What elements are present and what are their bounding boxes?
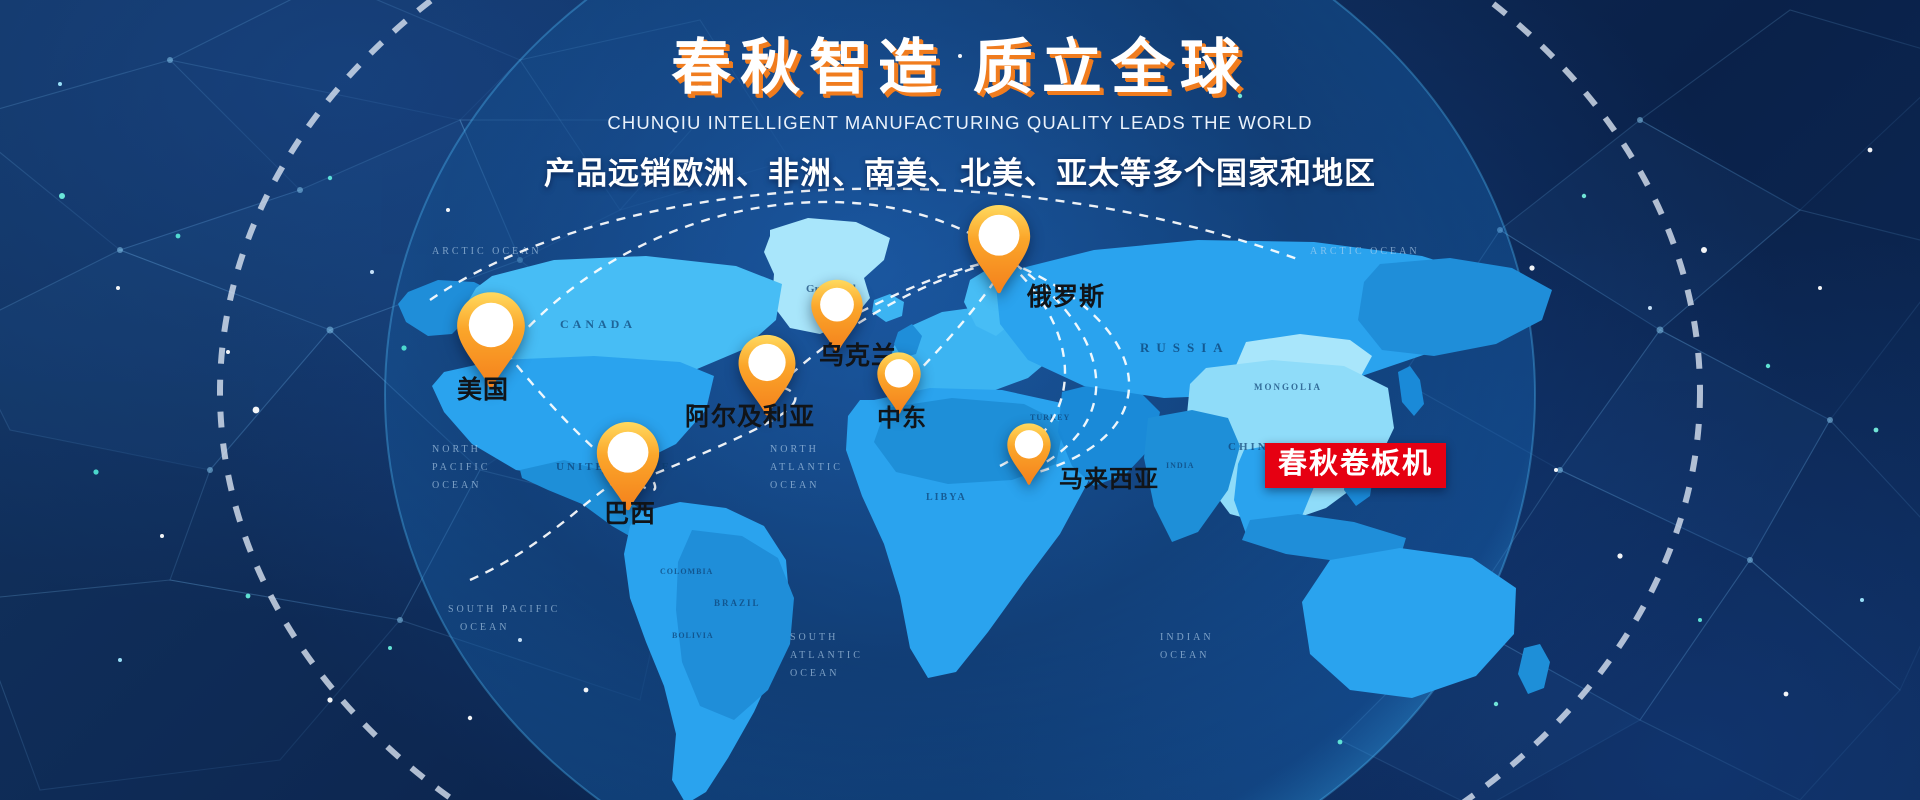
map-pin-usa[interactable]: 美国 <box>455 290 527 390</box>
map-pin-icon <box>1006 422 1052 486</box>
map-pin-ukraine[interactable]: 乌克兰 <box>810 278 864 354</box>
map-pin-icon <box>966 203 1032 295</box>
map-pin-label: 中东 <box>877 407 927 431</box>
map-pin-russia[interactable]: 俄罗斯 <box>966 203 1032 295</box>
page-title: 春秋智造 质立全球 <box>671 34 1249 101</box>
map-pin-mideast[interactable]: 中东 <box>876 351 922 415</box>
headline-block: 春秋智造 质立全球 CHUNQIU INTELLIGENT MANUFACTUR… <box>0 34 1920 193</box>
map-pin-icon <box>455 290 527 390</box>
page-subtitle-en: CHUNQIU INTELLIGENT MANUFACTURING QUALIT… <box>0 112 1920 134</box>
map-pin-brazil[interactable]: 巴西 <box>595 420 661 512</box>
map-pin-icon <box>595 420 661 512</box>
banner-root: ARCTIC OCEAN ARCTIC OCEAN NORTH PACIFIC … <box>0 0 1920 800</box>
map-pin-label: 阿尔及利亚 <box>685 405 815 430</box>
map-pin-label: 巴西 <box>604 502 656 527</box>
map-pin-label: 俄罗斯 <box>1027 285 1105 310</box>
map-pin-malaysia[interactable]: 马来西亚 <box>1006 422 1052 486</box>
map-pin-label: 美国 <box>457 378 509 403</box>
map-pin-algeria[interactable]: 阿尔及利亚 <box>737 333 797 417</box>
page-subtitle-cn: 产品远销欧洲、非洲、南美、北美、亚太等多个国家和地区 <box>0 148 1920 193</box>
map-pin-label: 马来西亚 <box>1059 468 1159 492</box>
product-badge[interactable]: 春秋卷板机 <box>1265 443 1446 488</box>
